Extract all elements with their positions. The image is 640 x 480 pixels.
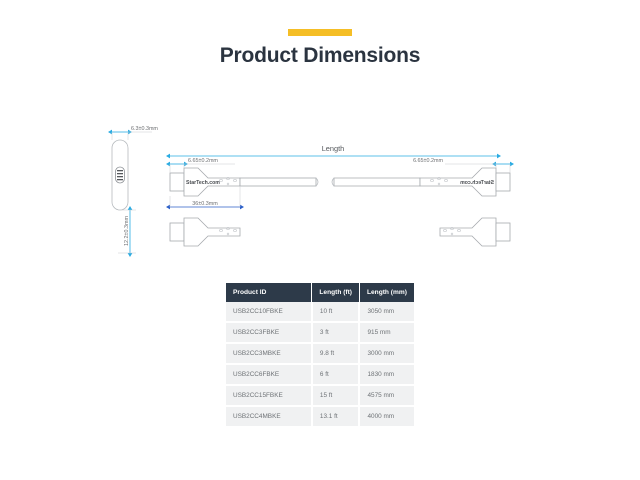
connector-left-bottom	[170, 218, 240, 246]
column-header-length-mm: Length (mm)	[359, 283, 414, 302]
cell-length-ft: 3 ft	[312, 322, 360, 343]
dim-connector-height-label: 12.2±0.3mm	[124, 216, 130, 246]
cable-right-segment	[334, 178, 420, 186]
cell-product-id: USB2CC10FBKE	[226, 302, 312, 322]
cell-length-ft: 15 ft	[312, 385, 360, 406]
dim-head-width-left	[170, 164, 235, 173]
cell-length-ft: 9.8 ft	[312, 343, 360, 364]
cell-length-mm: 3050 mm	[359, 302, 414, 322]
table-header-row: Product ID Length (ft) Length (mm)	[226, 283, 414, 302]
title-accent-bar	[288, 29, 352, 36]
table-row: USB2CC4MBKE 13.1 ft 4000 mm	[226, 406, 414, 426]
dim-head-width-left-label: 6.65±0.2mm	[188, 158, 218, 164]
cell-product-id: USB2CC15FBKE	[226, 385, 312, 406]
cell-length-ft: 13.1 ft	[312, 406, 360, 426]
cell-length-mm: 3000 mm	[359, 343, 414, 364]
dim-length-label: Length	[322, 144, 345, 153]
cable-dimension-diagram: 6.3±0.3mm 12.2±0.3mm Length StarTech.com	[0, 110, 640, 275]
column-header-length-ft: Length (ft)	[312, 283, 360, 302]
cell-length-mm: 915 mm	[359, 322, 414, 343]
page-title: Product Dimensions	[0, 44, 640, 68]
table-row: USB2CC3FBKE 3 ft 915 mm	[226, 322, 414, 343]
dim-connector-width-label: 6.3±0.3mm	[131, 126, 158, 132]
dimensions-table: Product ID Length (ft) Length (mm) USB2C…	[226, 283, 414, 426]
table-row: USB2CC3MBKE 9.8 ft 3000 mm	[226, 343, 414, 364]
usbc-end-view	[112, 140, 128, 210]
column-header-product-id: Product ID	[226, 283, 312, 302]
cell-length-ft: 6 ft	[312, 364, 360, 385]
table-row: USB2CC10FBKE 10 ft 3050 mm	[226, 302, 414, 322]
cell-product-id: USB2CC3MBKE	[226, 343, 312, 364]
dim-connector-width	[112, 132, 152, 140]
cell-length-mm: 1830 mm	[359, 364, 414, 385]
dim-head-width-right	[445, 164, 510, 173]
product-dimensions-page: Product Dimensions	[0, 0, 640, 480]
cell-product-id: USB2CC3FBKE	[226, 322, 312, 343]
table-row: USB2CC15FBKE 15 ft 4575 mm	[226, 385, 414, 406]
cell-length-mm: 4575 mm	[359, 385, 414, 406]
cell-length-ft: 10 ft	[312, 302, 360, 322]
cell-product-id: USB2CC4MBKE	[226, 406, 312, 426]
cell-length-mm: 4000 mm	[359, 406, 414, 426]
connector-right-bottom	[440, 218, 510, 246]
brand-right-label: StarTech.com	[460, 180, 494, 186]
dim-body-length-label: 36±0.3mm	[192, 201, 218, 207]
dim-head-width-right-label: 6.65±0.2mm	[413, 158, 443, 164]
table-row: USB2CC6FBKE 6 ft 1830 mm	[226, 364, 414, 385]
cell-product-id: USB2CC6FBKE	[226, 364, 312, 385]
brand-left-label: StarTech.com	[186, 180, 220, 186]
